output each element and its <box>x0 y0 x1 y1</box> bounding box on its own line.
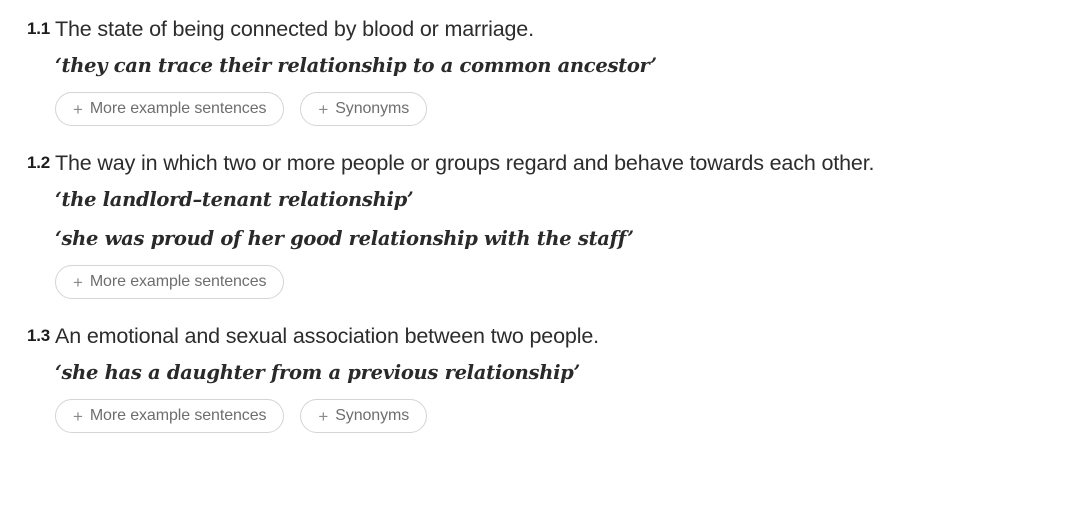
plus-icon: + <box>73 408 83 425</box>
sense-content: The way in which two or more people or g… <box>55 148 1080 299</box>
sense-action-row: + More example sentences <box>55 265 1076 299</box>
example-sentence: ‘they can trace their relationship to a … <box>55 52 1076 80</box>
sense-action-row: + More example sentences + Synonyms <box>55 92 1076 126</box>
more-example-sentences-button[interactable]: + More example sentences <box>55 399 284 433</box>
button-label: More example sentences <box>90 408 267 424</box>
sense-number: 1.3 <box>0 321 55 351</box>
sense-number: 1.1 <box>0 14 55 44</box>
sense-block: 1.1 The state of being connected by bloo… <box>0 14 1080 126</box>
button-label: More example sentences <box>90 274 267 290</box>
synonyms-button[interactable]: + Synonyms <box>300 92 427 126</box>
button-label: More example sentences <box>90 101 267 117</box>
plus-icon: + <box>318 101 328 118</box>
more-example-sentences-button[interactable]: + More example sentences <box>55 92 284 126</box>
sense-definition: An emotional and sexual association betw… <box>55 321 1076 351</box>
sense-action-row: + More example sentences + Synonyms <box>55 399 1076 433</box>
dictionary-entry-senses: 1.1 The state of being connected by bloo… <box>0 0 1080 433</box>
sense-number: 1.2 <box>0 148 55 178</box>
sense-definition: The state of being connected by blood or… <box>55 14 1076 44</box>
example-sentence: ‘she was proud of her good relationship … <box>55 225 1076 253</box>
plus-icon: + <box>73 274 83 291</box>
button-label: Synonyms <box>335 408 409 424</box>
sense-block: 1.2 The way in which two or more people … <box>0 148 1080 299</box>
example-sentence: ‘she has a daughter from a previous rela… <box>55 359 1076 387</box>
synonyms-button[interactable]: + Synonyms <box>300 399 427 433</box>
plus-icon: + <box>318 408 328 425</box>
button-label: Synonyms <box>335 101 409 117</box>
sense-content: An emotional and sexual association betw… <box>55 321 1080 433</box>
sense-definition: The way in which two or more people or g… <box>55 148 1076 178</box>
sense-block: 1.3 An emotional and sexual association … <box>0 321 1080 433</box>
plus-icon: + <box>73 101 83 118</box>
sense-content: The state of being connected by blood or… <box>55 14 1080 126</box>
more-example-sentences-button[interactable]: + More example sentences <box>55 265 284 299</box>
example-sentence: ‘the landlord–tenant relationship’ <box>55 186 1076 214</box>
